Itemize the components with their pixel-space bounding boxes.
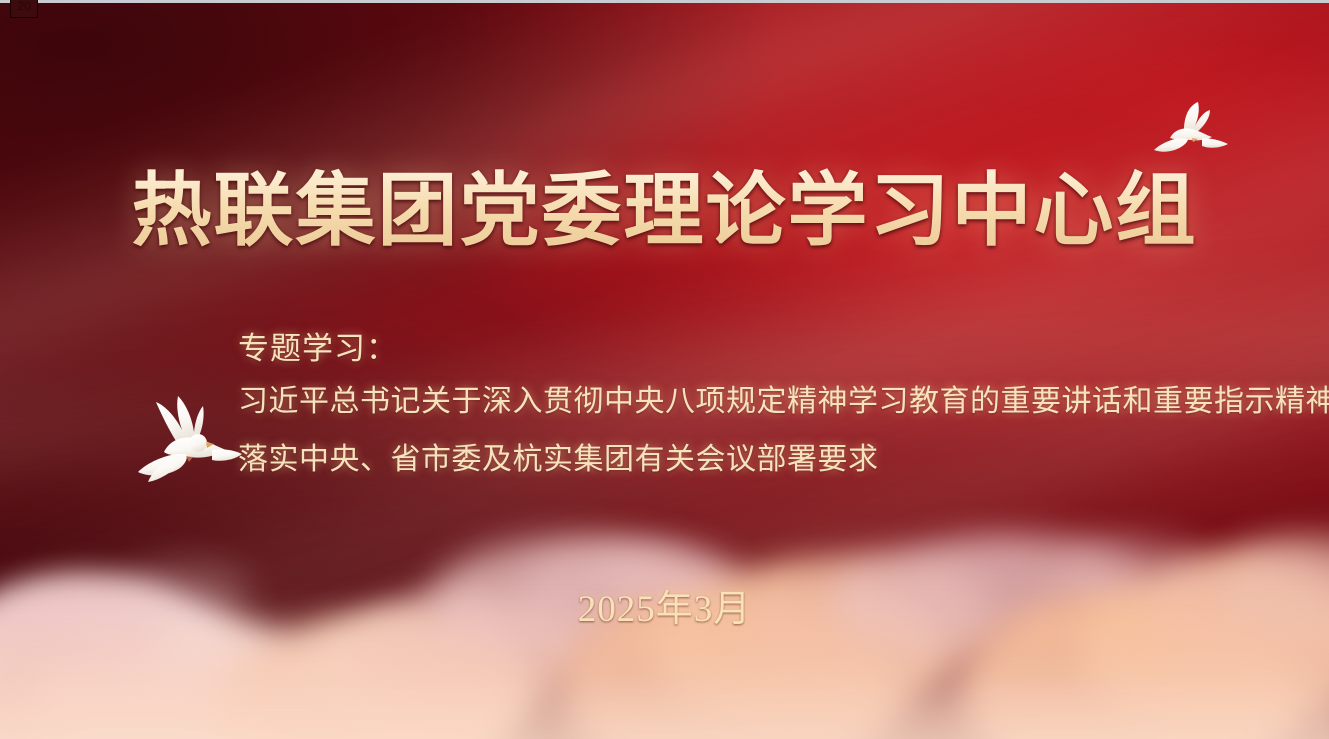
dove-icon-left bbox=[122, 392, 244, 496]
top-edge-strip bbox=[0, 0, 1329, 3]
slide-canvas: 热联集团党委理论学习中心组 专题学习： 习近平总书记关于深入贯彻中央八项规定精神… bbox=[0, 0, 1329, 739]
page-title: 热联集团党委理论学习中心组 bbox=[0, 168, 1329, 252]
date-label: 2025年3月 bbox=[0, 578, 1329, 632]
subject-block: 专题学习： 习近平总书记关于深入贯彻中央八项规定精神学习教育的重要讲话和重要指示… bbox=[238, 334, 1329, 475]
subject-line-2: 落实中央、省市委及杭实集团有关会议部署要求 bbox=[238, 445, 1329, 475]
slide-number-chip: 20 bbox=[10, 0, 38, 18]
subject-line-1: 习近平总书记关于深入贯彻中央八项规定精神学习教育的重要讲话和重要指示精神 bbox=[238, 387, 1329, 417]
subject-lead-label: 专题学习： bbox=[238, 334, 1329, 365]
dove-icon-top-right bbox=[1140, 96, 1234, 168]
